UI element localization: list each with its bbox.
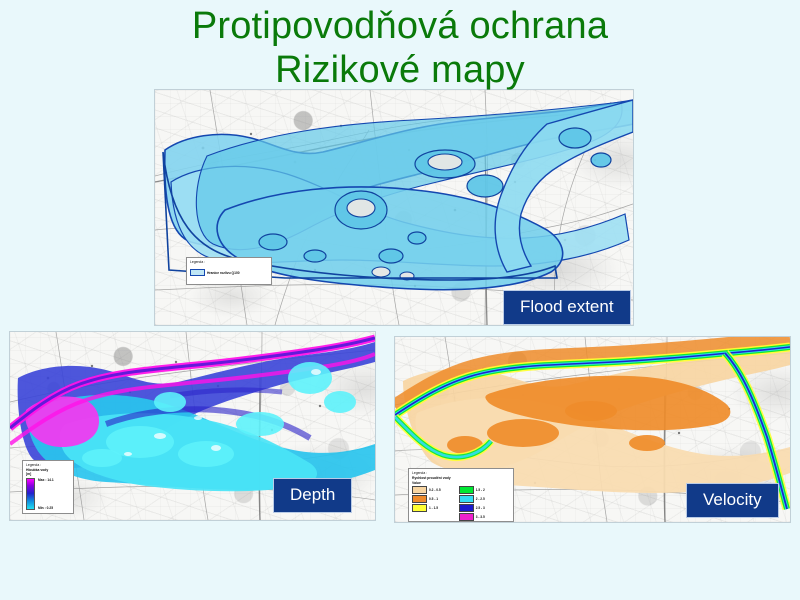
legend-class-range: 0.5 - 1	[429, 497, 438, 501]
legend-entry-label: Hranice rozlivu Q100	[207, 271, 240, 275]
legend-depth: Legenda : Hloubka vody [m] Max : 14.1 Mi…	[22, 460, 74, 514]
legend-min-label: Min : 0.25	[38, 506, 54, 510]
legend-swatch	[459, 504, 474, 512]
legend-heading: Legenda :	[412, 471, 510, 475]
legend-class-column-left: 0.2 - 0.5 0.5 - 1 1 - 1.5	[412, 486, 441, 522]
legend-flood-extent: Legenda : Hranice rozlivu Q100	[186, 257, 272, 285]
legend-class-item: 1 - 1.5	[412, 504, 441, 512]
legend-class-column-right: 1.5 - 2 2 - 2.5 2.5 - 3 3 - 3.5	[459, 486, 485, 522]
legend-class-range: 1 - 1.5	[429, 506, 438, 510]
legend-swatch	[412, 486, 427, 494]
legend-swatch-q100	[190, 269, 205, 276]
caption-depth[interactable]: Depth	[273, 478, 352, 513]
legend-entry: Hranice rozlivu Q100	[190, 269, 268, 276]
legend-class-range: 3 - 3.5	[476, 515, 485, 519]
legend-swatch	[459, 486, 474, 494]
legend-quantity: Rychlost proudění vody	[412, 476, 510, 480]
page-title: Protipovodňová ochrana Rizikové mapy	[0, 4, 800, 92]
legend-velocity: Legenda : Rychlost proudění vody Value 0…	[408, 468, 514, 522]
legend-heading: Legenda :	[190, 260, 268, 264]
legend-max-label: Max : 14.1	[38, 478, 54, 482]
legend-swatch	[412, 504, 427, 512]
legend-class-range: 2 - 2.5	[476, 497, 485, 501]
legend-class-item: 0.5 - 1	[412, 495, 441, 503]
legend-class-range: 0.2 - 0.5	[429, 488, 441, 492]
legend-unit: [m]	[26, 472, 70, 476]
legend-value-header: Value	[412, 481, 510, 485]
slide-root: Protipovodňová ochrana Rizikové mapy	[0, 0, 800, 600]
legend-class-item: 1.5 - 2	[459, 486, 485, 494]
legend-color-ramp	[26, 478, 35, 510]
legend-class-item: 2.5 - 3	[459, 504, 485, 512]
legend-swatch	[412, 495, 427, 503]
legend-swatch	[459, 513, 474, 521]
caption-velocity[interactable]: Velocity	[686, 483, 779, 518]
caption-flood-extent[interactable]: Flood extent	[503, 290, 631, 325]
legend-class-item: 0.2 - 0.5	[412, 486, 441, 494]
legend-class-range: 2.5 - 3	[476, 506, 485, 510]
legend-class-item: 3 - 3.5	[459, 513, 485, 521]
legend-swatch	[459, 495, 474, 503]
legend-class-range: 1.5 - 2	[476, 488, 485, 492]
legend-class-item: 2 - 2.5	[459, 495, 485, 503]
legend-heading: Legenda :	[26, 463, 70, 467]
